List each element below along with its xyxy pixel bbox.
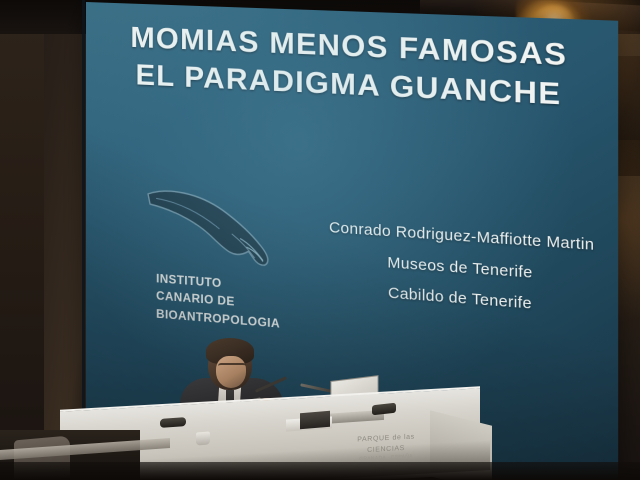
foreground-bottom-shadow bbox=[0, 462, 640, 480]
slide-title: MOMIAS MENOS FAMOSAS EL PARADIGMA GUANCH… bbox=[86, 18, 618, 118]
desk-monitor bbox=[300, 411, 330, 430]
auditorium-left-wall-strip bbox=[0, 0, 44, 480]
drinking-glass bbox=[196, 432, 210, 446]
photo-scene: MOMIAS MENOS FAMOSAS EL PARADIGMA GUANCH… bbox=[0, 0, 640, 480]
venue-plaque: PARQUE de las CIENCIAS GRANADA · ESPAÑA bbox=[338, 431, 434, 465]
speaker-face bbox=[216, 356, 246, 388]
institute-logo-text: INSTITUTO CANARIO DE BIOANTROPOLOGIA bbox=[156, 271, 307, 336]
speaker-glasses-icon bbox=[218, 363, 246, 372]
institute-logo-block: INSTITUTO CANARIO DE BIOANTROPOLOGIA bbox=[142, 183, 307, 335]
slide-author-block: Conrado Rodriguez-Maffiotte Martin Museo… bbox=[320, 213, 605, 327]
microphone-left-base bbox=[160, 417, 186, 428]
mummy-hand-logo-icon bbox=[142, 183, 297, 279]
